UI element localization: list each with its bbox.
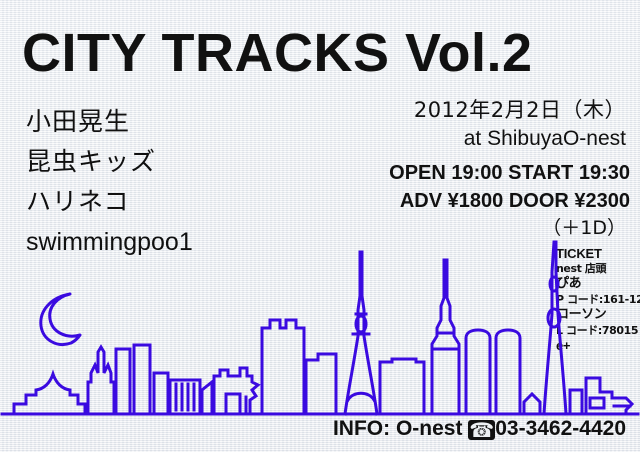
telephone-icon: ☎: [468, 420, 495, 440]
event-venue: at ShibuyaO-nest: [464, 125, 626, 153]
list-item: ハリネコ: [26, 182, 276, 222]
page-title: CITY TRACKS Vol.2: [22, 24, 533, 82]
contact-info: INFO: O-nest ☎03-3462-4420: [333, 416, 626, 442]
list-item: 昆虫キッズ: [26, 142, 276, 182]
event-times: OPEN 19:00 START 19:30: [389, 160, 630, 186]
tokyo-skyline-illustration: [0, 232, 640, 417]
event-prices: ADV ¥1800 DOOR ¥2300: [400, 188, 630, 214]
flyer-poster: CITY TRACKS Vol.2 小田晃生 昆虫キッズ ハリネコ swimmi…: [0, 0, 640, 452]
list-item: 小田晃生: [26, 102, 276, 142]
contact-phone-number: 03-3462-4420: [495, 417, 626, 440]
event-date: 2012年2月2日（木）: [414, 96, 626, 124]
contact-info-label: INFO: O-nest: [333, 417, 463, 440]
